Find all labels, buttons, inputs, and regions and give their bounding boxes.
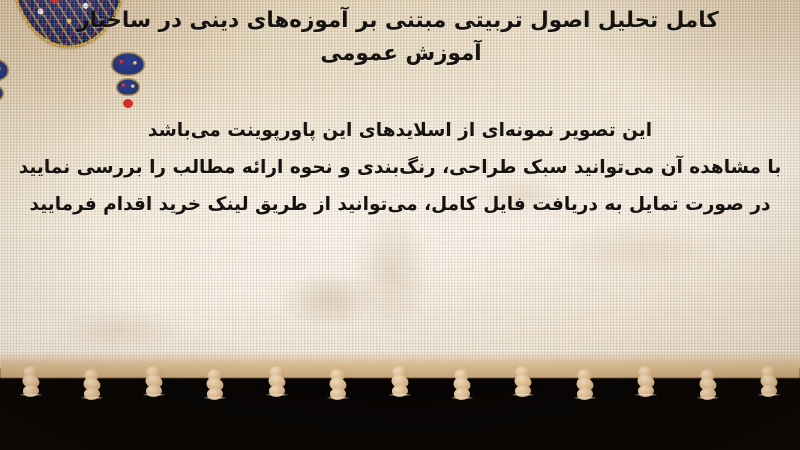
fringe-tassel [572,363,598,450]
tassel-strands [512,394,534,440]
slide-title-line-2: آموزش عمومی [10,37,792,70]
fringe-tassel [387,360,413,448]
fringe-tassel [695,363,721,450]
fringe-tassel [756,360,782,448]
fringe-tassel [202,363,228,450]
tassel-strands [574,397,596,443]
tassel-strands [389,394,411,440]
slide-body-line-3: در صورت تمایل به دریافت فایل کامل، می‌تو… [10,186,790,223]
tassel-strands [327,397,349,443]
fringe-tassel [325,363,351,450]
slide-title-line-1: کامل تحلیل اصول تربیتی مبتنی بر آموزه‌ها… [10,4,792,37]
fringe-tassel [79,363,105,450]
fringe-tassel [449,363,475,450]
tassel-strands [266,394,288,440]
tassel-strands [635,394,657,440]
slide-text-layer: کامل تحلیل اصول تربیتی مبتنی بر آموزه‌ها… [0,0,800,378]
slide-title: کامل تحلیل اصول تربیتی مبتنی بر آموزه‌ها… [10,4,792,70]
fringe-tassel [141,360,167,448]
powerpoint-slide-preview: کامل تحلیل اصول تربیتی مبتنی بر آموزه‌ها… [0,0,800,450]
fringe-tassel [18,360,44,448]
fringe-tassel [264,360,290,448]
tassel-strands [20,394,42,440]
slide-body-line-2: با مشاهده آن می‌توانید سبک طراحی، رنگ‌بن… [10,149,790,186]
fringe-tassel [633,360,659,448]
tassel-strands [451,397,473,443]
carpet-knotted-fringe [0,360,800,450]
tassel-strands [143,394,165,440]
slide-body-line-1: این تصویر نمونه‌ای از اسلایدهای این پاور… [10,112,790,149]
tassel-strands [758,394,780,440]
fringe-tassel [510,360,536,448]
tassel-strands [81,397,103,443]
tassel-strands [204,397,226,443]
tassel-strands [697,397,719,443]
slide-body-text: این تصویر نمونه‌ای از اسلایدهای این پاور… [10,112,790,223]
